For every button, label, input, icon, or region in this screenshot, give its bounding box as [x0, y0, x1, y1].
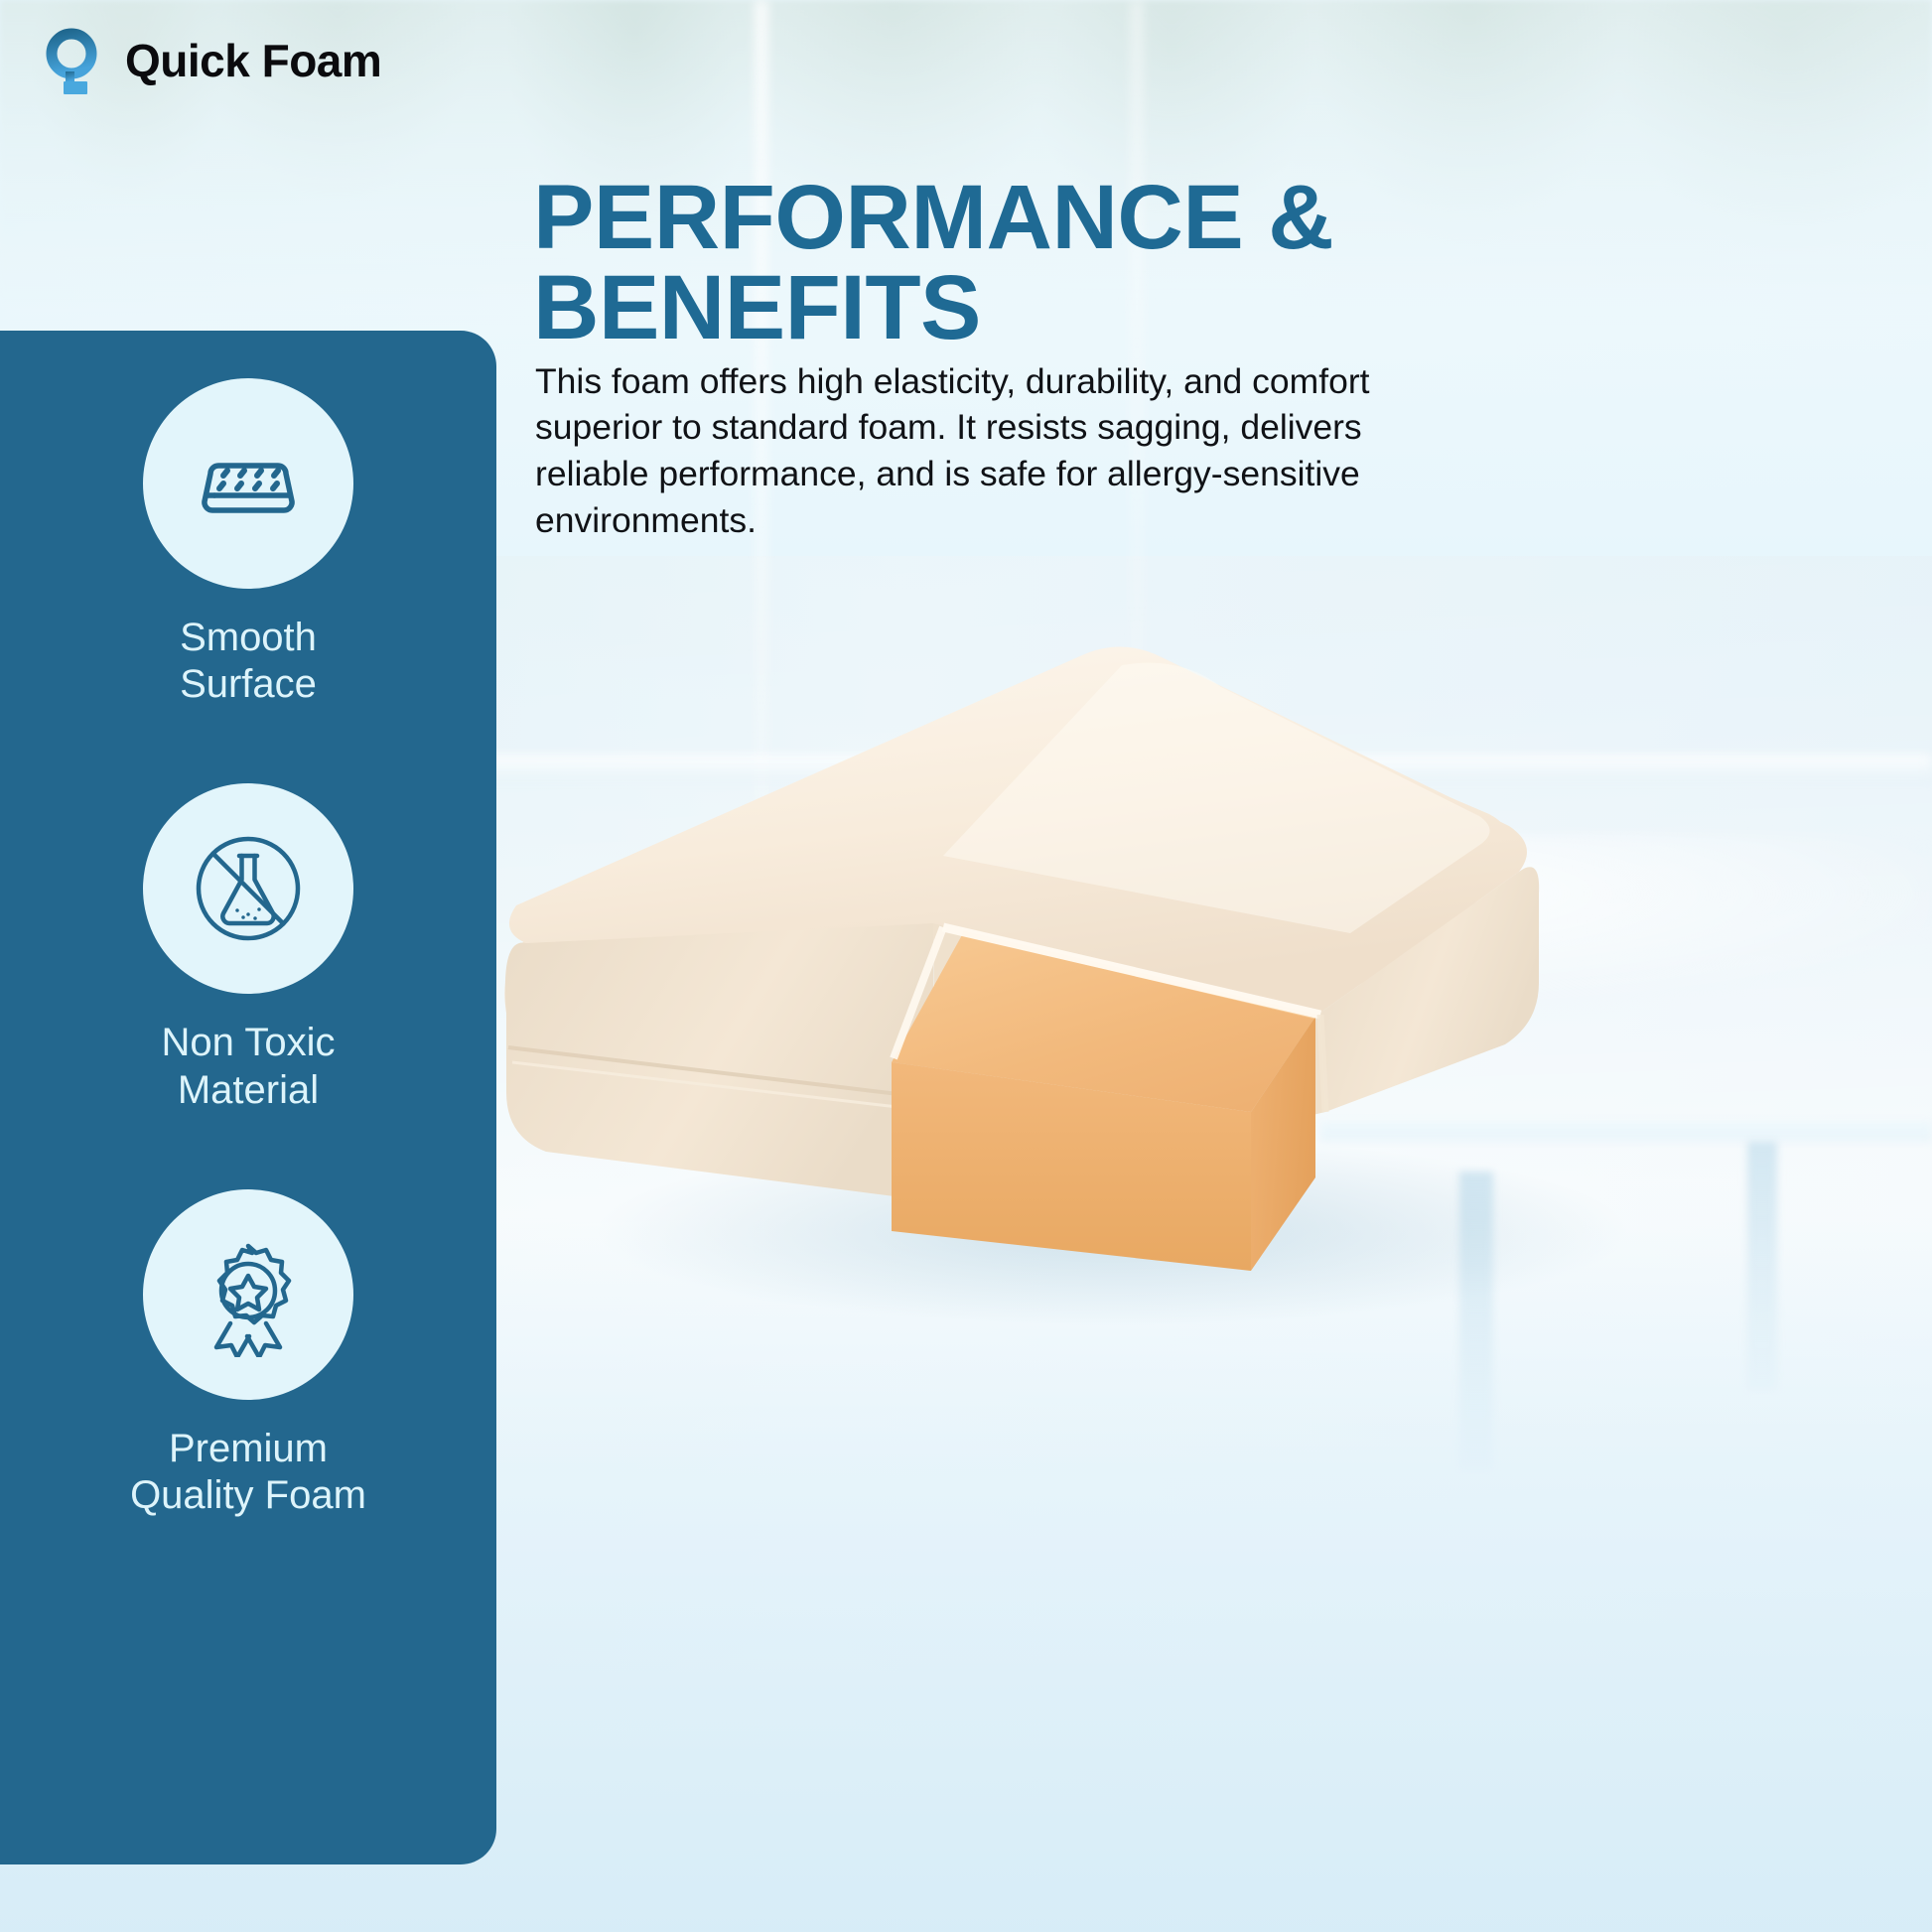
feature-badge-1	[143, 378, 353, 589]
mattress-illustration	[427, 596, 1747, 1370]
feature-sidebar: Smooth Surface Non Toxic Material	[0, 331, 496, 1864]
feature-label-3-line-1: Premium	[169, 1427, 328, 1470]
feature-item-non-toxic-material[interactable]: Non Toxic Material	[0, 783, 516, 1113]
feature-item-premium-quality-foam[interactable]: Premium Quality Foam	[0, 1189, 516, 1519]
quick-foam-q-icon	[44, 26, 105, 95]
foam-mattress-image	[427, 596, 1747, 1370]
poster-canvas: Quick Foam PERFORMANCE & BENEFITS This f…	[0, 0, 1932, 1932]
feature-label-2-line-1: Non Toxic	[162, 1021, 336, 1064]
feature-label-1-line-1: Smooth	[180, 616, 317, 659]
feature-label-2-line-2: Material	[178, 1068, 319, 1112]
feature-label-3-line-2: Quality Foam	[130, 1473, 366, 1517]
feature-item-smooth-surface[interactable]: Smooth Surface	[0, 378, 516, 708]
quality-award-badge-icon	[186, 1232, 311, 1357]
page-title: PERFORMANCE & BENEFITS	[533, 173, 1526, 353]
page-title-line-1: PERFORMANCE &	[533, 167, 1333, 268]
mattress-icon	[189, 424, 308, 543]
feature-badge-2	[143, 783, 353, 994]
feature-badge-3	[143, 1189, 353, 1400]
brand-name: Quick Foam	[125, 34, 381, 87]
no-chemicals-flask-icon	[186, 826, 311, 951]
feature-label-1-line-2: Surface	[180, 662, 317, 706]
description-text: This foam offers high elasticity, durabi…	[535, 358, 1449, 544]
feature-label-1: Smooth Surface	[180, 615, 317, 708]
feature-label-2: Non Toxic Material	[162, 1020, 336, 1113]
brand-logo[interactable]: Quick Foam	[44, 26, 381, 95]
feature-label-3: Premium Quality Foam	[130, 1426, 366, 1519]
page-title-line-2: BENEFITS	[533, 263, 1526, 353]
